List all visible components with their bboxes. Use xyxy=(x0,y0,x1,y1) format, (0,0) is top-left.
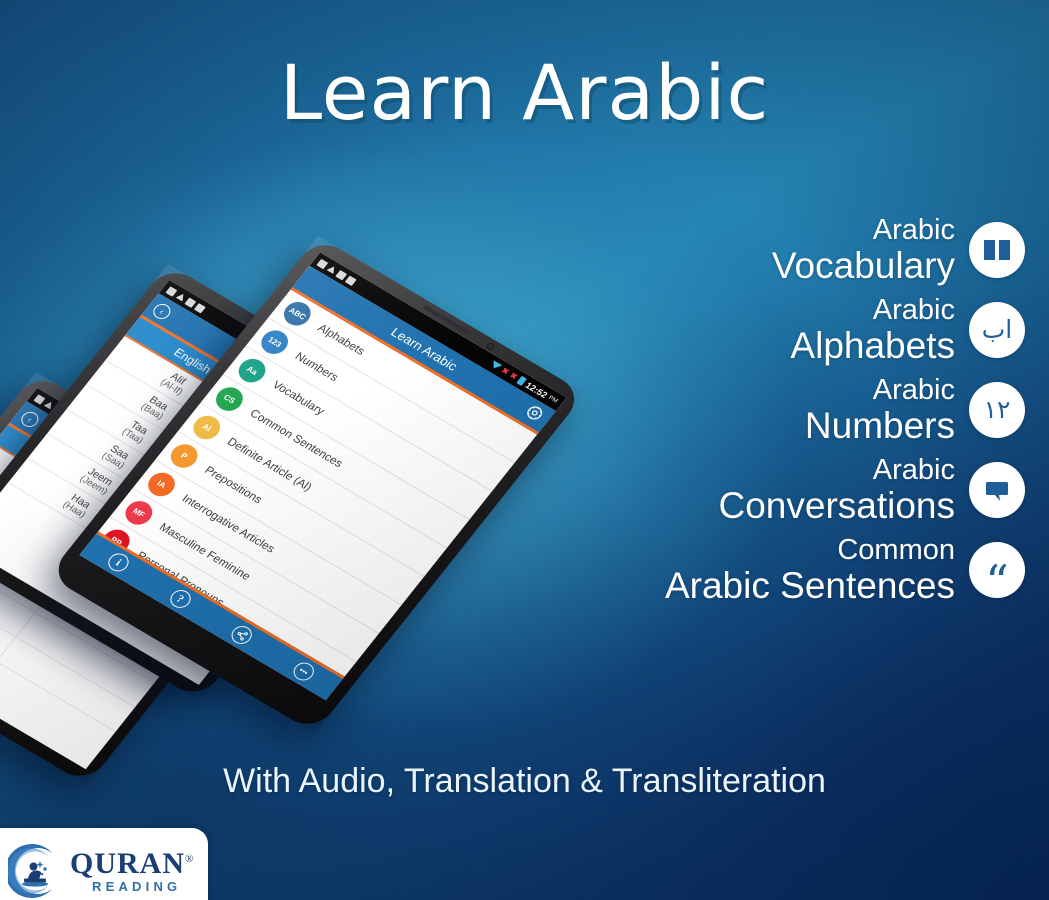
menu-badge: 123 xyxy=(256,326,293,358)
feature-line2: Vocabulary xyxy=(772,247,955,284)
status-meridiem: PM xyxy=(547,395,559,404)
sync-icon xyxy=(185,297,197,307)
front-camera xyxy=(485,342,495,351)
feature-item-vocabulary: Arabic Vocabulary xyxy=(565,216,1025,284)
menu-badge: CS xyxy=(211,383,248,415)
quran-reading-logo-icon xyxy=(8,844,62,898)
back-arrow-icon[interactable]: ‹ xyxy=(150,301,174,322)
menu-badge: MF xyxy=(120,497,157,529)
tagline: With Audio, Translation & Transliteratio… xyxy=(0,762,1049,801)
feature-line2: Arabic Sentences xyxy=(665,567,955,604)
feature-item-numbers: Arabic Numbers ١٢ xyxy=(565,376,1025,444)
menu-badge: P xyxy=(166,440,203,472)
feature-line1: Common xyxy=(665,536,955,565)
feature-line1: Arabic xyxy=(772,216,955,245)
brand-logo-panel: QURAN® READING xyxy=(0,828,208,900)
share-icon[interactable] xyxy=(228,623,256,648)
gear-icon[interactable] xyxy=(520,402,547,426)
arabic-numerals-icon: ١٢ xyxy=(969,382,1025,438)
feature-item-sentences: Common Arabic Sentences “ xyxy=(565,536,1025,604)
wifi-icon xyxy=(489,360,502,371)
feature-line2: Alphabets xyxy=(790,327,955,364)
message-icon xyxy=(166,286,178,296)
warning-icon xyxy=(326,264,337,274)
quotation-mark-icon: “ xyxy=(969,542,1025,598)
download-icon xyxy=(345,275,357,285)
menu-badge: IA xyxy=(143,468,180,500)
feature-line1: Arabic xyxy=(790,296,955,325)
feature-label: Arabic Vocabulary xyxy=(772,216,969,284)
feature-list: Arabic Vocabulary Arabic Alphabets اب Ar… xyxy=(565,216,1025,616)
quotation-mark-glyph: “ xyxy=(985,559,1009,605)
more-button[interactable]: ••• xyxy=(289,659,317,684)
info-button[interactable]: i xyxy=(105,550,133,575)
arabic-letters-glyph: اب xyxy=(982,317,1012,342)
brand-subtitle: READING xyxy=(92,880,194,893)
menu-badge: Al xyxy=(188,411,225,443)
help-button[interactable]: ? xyxy=(166,586,194,611)
warning-icon xyxy=(176,292,187,302)
arabic-letters-icon: اب xyxy=(969,302,1025,358)
feature-label: Arabic Conversations xyxy=(718,456,969,524)
open-book-icon xyxy=(969,222,1025,278)
message-icon xyxy=(34,394,46,404)
menu-badge: ABC xyxy=(279,298,316,330)
message-icon xyxy=(317,258,329,268)
feature-item-conversations: Arabic Conversations xyxy=(565,456,1025,524)
feature-label: Arabic Alphabets xyxy=(790,296,969,364)
download-icon xyxy=(194,303,206,313)
arabic-numerals-glyph: ١٢ xyxy=(984,397,1011,422)
speech-bubble-icon xyxy=(969,462,1025,518)
registered-mark: ® xyxy=(185,853,194,865)
feature-label: Arabic Numbers xyxy=(805,376,969,444)
feature-line2: Numbers xyxy=(805,407,955,444)
brand-name-text: QURAN xyxy=(70,847,185,880)
feature-item-alphabets: Arabic Alphabets اب xyxy=(565,296,1025,364)
brand-logo-text: QURAN® READING xyxy=(70,849,194,893)
menu-badge: Aa xyxy=(233,354,270,386)
brand-name: QURAN® xyxy=(70,849,194,879)
feature-line1: Arabic xyxy=(805,376,955,405)
feature-line1: Arabic xyxy=(718,456,955,485)
sync-icon xyxy=(336,270,348,280)
feature-label: Common Arabic Sentences xyxy=(665,536,969,604)
feature-line2: Conversations xyxy=(718,487,955,524)
